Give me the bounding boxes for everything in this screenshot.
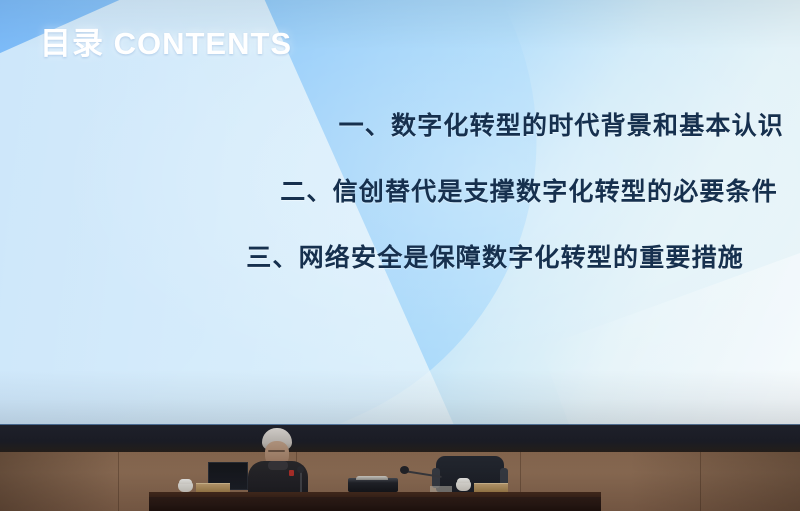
conference-hall-scene: 目录 CONTENTS 一、数字化转型的时代背景和基本认识 二、信创替代是支撑数… [0,0,800,511]
chair-armrest-left [432,468,440,488]
teacup-lid [457,478,470,483]
desk-nameplate [474,483,508,492]
projection-screen: 目录 CONTENTS 一、数字化转型的时代背景和基本认识 二、信创替代是支撑数… [0,0,800,430]
desk-console-top [356,476,388,480]
presenter-collar [268,461,288,470]
slide-title: 目录 CONTENTS [40,18,292,63]
microphone-head [297,466,304,473]
presenter-brow [268,450,285,452]
contents-item-1: 一、数字化转型的时代背景和基本认识 [0,106,784,142]
teacup [456,478,471,491]
teacup [178,479,193,492]
slide-contents-list: 一、数字化转型的时代背景和基本认识 二、信创替代是支撑数字化转型的必要条件 三、… [0,106,784,304]
desk-nameplate [196,483,230,492]
contents-item-2: 二、信创替代是支撑数字化转型的必要条件 [0,172,778,208]
conference-table-front [149,497,601,511]
teacup-lid [179,479,192,484]
desk-console-unit [348,478,398,492]
wall-shadow-left [0,452,120,511]
microphone-stem [300,470,302,494]
presenter-lapel-badge [289,470,294,476]
microphone-head [400,466,409,474]
stage-dark-band [0,425,800,455]
contents-item-3: 三、网络安全是保障数字化转型的重要措施 [0,238,744,274]
wall-shadow-right [630,452,800,511]
